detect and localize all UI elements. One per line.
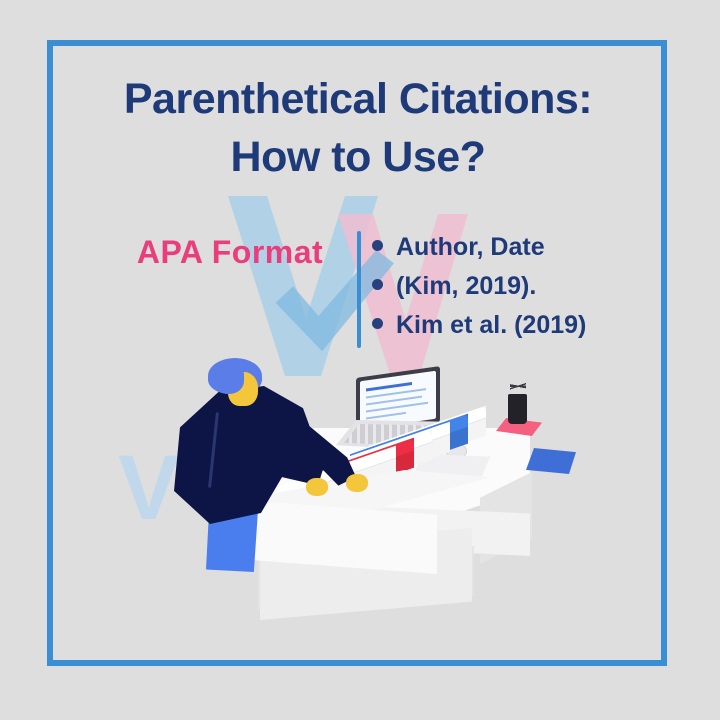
page-title-line2: How to Use? bbox=[50, 128, 666, 186]
list-item: Kim et al. (2019) bbox=[372, 306, 642, 345]
vertical-divider bbox=[357, 231, 361, 348]
citation-examples-list: Author, Date (Kim, 2019). Kim et al. (20… bbox=[372, 228, 642, 345]
list-item-label: Author, Date bbox=[396, 228, 545, 267]
page-title: Parenthetical Citations: How to Use? bbox=[50, 70, 666, 186]
list-item-label: (Kim, 2019). bbox=[396, 267, 536, 306]
list-item-label: Kim et al. (2019) bbox=[396, 306, 586, 345]
apa-format-label: APA Format bbox=[112, 234, 348, 271]
poster-canvas: V CE bbox=[0, 0, 720, 720]
bullet-dot-icon bbox=[372, 240, 383, 251]
bullet-dot-icon bbox=[372, 279, 383, 290]
list-item: Author, Date bbox=[372, 228, 642, 267]
bullet-dot-icon bbox=[372, 318, 383, 329]
list-item: (Kim, 2019). bbox=[372, 267, 642, 306]
page-title-line1: Parenthetical Citations: bbox=[124, 75, 592, 123]
